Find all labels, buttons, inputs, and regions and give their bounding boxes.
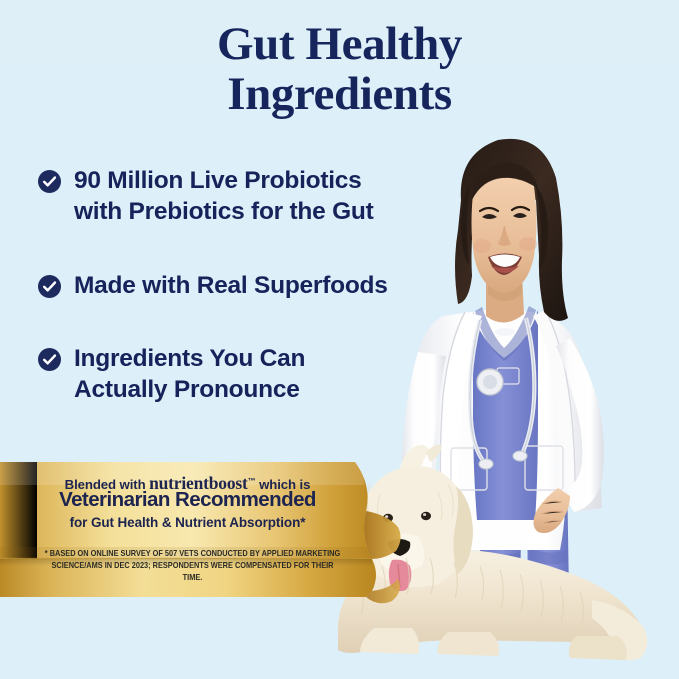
list-item-label: Made with Real Superfoods bbox=[74, 270, 388, 301]
banner-line-3: for Gut Health & Nutrient Absorption* bbox=[0, 515, 375, 530]
ad-creative: Gut Healthy Ingredients 90 Million Live … bbox=[0, 0, 679, 679]
check-circle-icon bbox=[38, 348, 61, 371]
list-item: Made with Real Superfoods bbox=[38, 270, 458, 301]
page-title: Gut Healthy Ingredients bbox=[0, 19, 679, 120]
list-item: 90 Million Live Probiotics with Prebioti… bbox=[38, 165, 458, 228]
headline-line-2: Ingredients bbox=[0, 69, 679, 119]
benefits-list: 90 Million Live Probiotics with Prebioti… bbox=[38, 165, 458, 406]
trademark-symbol: ™ bbox=[248, 477, 256, 486]
banner-line-2: Veterinarian Recommended bbox=[0, 488, 375, 512]
list-item-label: 90 Million Live Probiotics with Prebioti… bbox=[74, 165, 374, 228]
list-item: Ingredients You Can Actually Pronounce bbox=[38, 343, 458, 406]
list-item-label: Ingredients You Can Actually Pronounce bbox=[74, 343, 305, 406]
check-circle-icon bbox=[38, 170, 61, 193]
headline-line-1: Gut Healthy bbox=[217, 18, 462, 70]
check-circle-icon bbox=[38, 275, 61, 298]
veterinarian-recommended-banner: Blended with nutrientboost™ which is Vet… bbox=[0, 455, 460, 610]
banner-footnote: * BASED ON ONLINE SURVEY OF 507 VETS CON… bbox=[41, 548, 345, 584]
